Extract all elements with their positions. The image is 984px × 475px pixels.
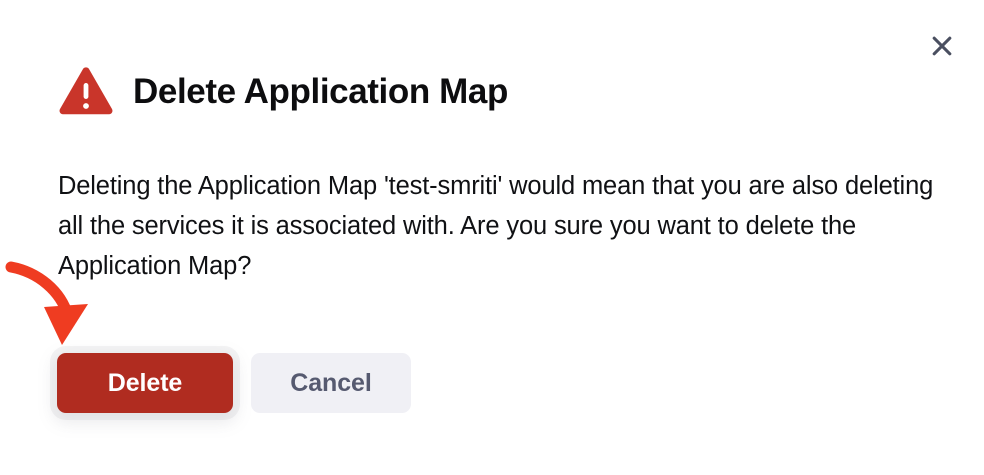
dialog-message: Deleting the Application Map 'test-smrit… xyxy=(58,166,938,286)
dialog-actions: Delete Cancel xyxy=(57,353,411,413)
warning-triangle-icon xyxy=(58,66,114,116)
dialog-header: Delete Application Map xyxy=(58,66,508,116)
delete-button[interactable]: Delete xyxy=(57,353,233,413)
page-title: Delete Application Map xyxy=(133,74,508,109)
delete-application-map-dialog: Delete Application Map Deleting the Appl… xyxy=(0,0,984,475)
close-icon xyxy=(931,35,953,57)
cancel-button[interactable]: Cancel xyxy=(251,353,411,413)
close-dialog-button[interactable] xyxy=(924,28,960,64)
